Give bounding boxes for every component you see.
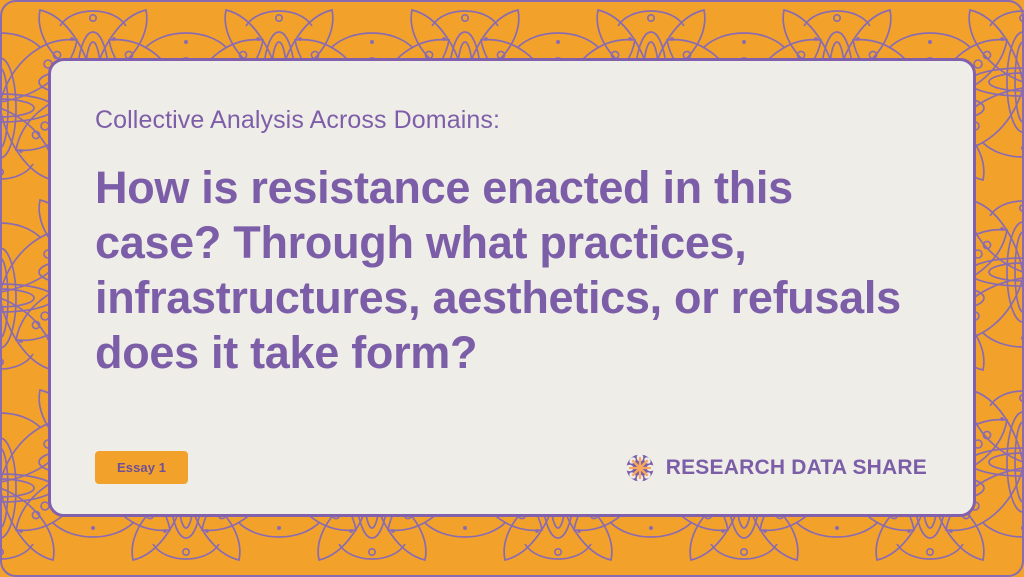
page-title: How is resistance enacted in this case? … bbox=[95, 161, 925, 381]
flower-rosette-icon bbox=[625, 453, 655, 483]
status-badge: Essay 1 bbox=[95, 451, 188, 484]
brand-lockup: RESEARCH DATA SHARE bbox=[625, 453, 927, 483]
eyebrow-text: Collective Analysis Across Domains: bbox=[95, 105, 927, 135]
brand-name-text: RESEARCH DATA SHARE bbox=[666, 456, 927, 480]
slide-canvas: Collective Analysis Across Domains: How … bbox=[0, 0, 1024, 577]
card-footer: Essay 1 bbox=[95, 451, 927, 484]
content-card: Collective Analysis Across Domains: How … bbox=[48, 58, 976, 517]
